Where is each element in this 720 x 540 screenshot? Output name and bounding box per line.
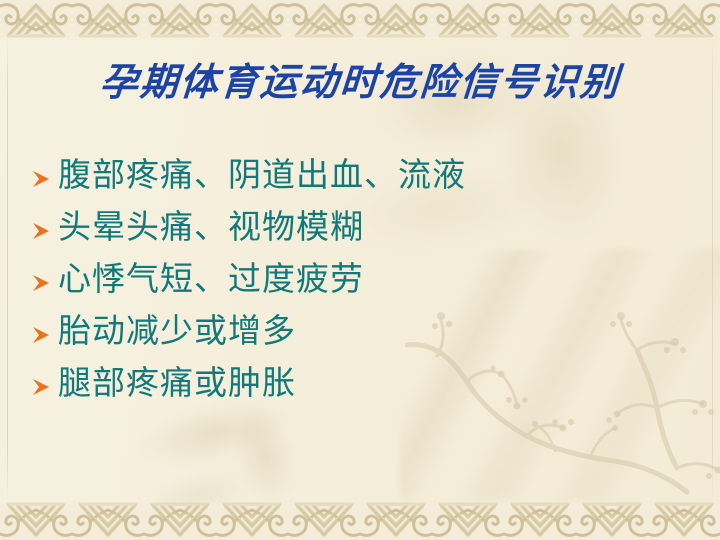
list-item-label: 头晕头痛、视物模糊 bbox=[58, 204, 690, 250]
list-item-label: 腹部疼痛、阴道出血、流液 bbox=[58, 152, 690, 198]
list-item: 腿部疼痛或肿胀 bbox=[30, 360, 690, 412]
bullet-list: 腹部疼痛、阴道出血、流液 头晕头痛、视物模糊 心悸气短、过度疲劳 bbox=[30, 152, 690, 412]
list-item: 腹部疼痛、阴道出血、流液 bbox=[30, 152, 690, 204]
arrowhead-right-icon bbox=[30, 152, 58, 202]
arrowhead-right-icon bbox=[30, 308, 58, 358]
list-item: 心悸气短、过度疲劳 bbox=[30, 256, 690, 308]
arrowhead-right-icon bbox=[30, 204, 58, 254]
list-item-label: 胎动减少或增多 bbox=[58, 308, 690, 354]
frame-edge-left bbox=[7, 38, 8, 502]
list-item: 头晕头痛、视物模糊 bbox=[30, 204, 690, 256]
celtic-triangle-border-icon-top bbox=[0, 0, 720, 40]
arrowhead-right-icon bbox=[30, 360, 58, 410]
list-item-label: 腿部疼痛或肿胀 bbox=[58, 360, 690, 406]
list-item: 胎动减少或增多 bbox=[30, 308, 690, 360]
slide-canvas: 孕期体育运动时危险信号识别 腹部疼痛、阴道出血、流液 头晕头痛、视物模糊 bbox=[0, 0, 720, 540]
celtic-triangle-border-icon-bottom bbox=[0, 500, 720, 540]
list-item-label: 心悸气短、过度疲劳 bbox=[58, 256, 690, 302]
arrowhead-right-icon bbox=[30, 256, 58, 306]
page-title: 孕期体育运动时危险信号识别 bbox=[0, 58, 720, 106]
frame-edge-right bbox=[712, 38, 713, 502]
